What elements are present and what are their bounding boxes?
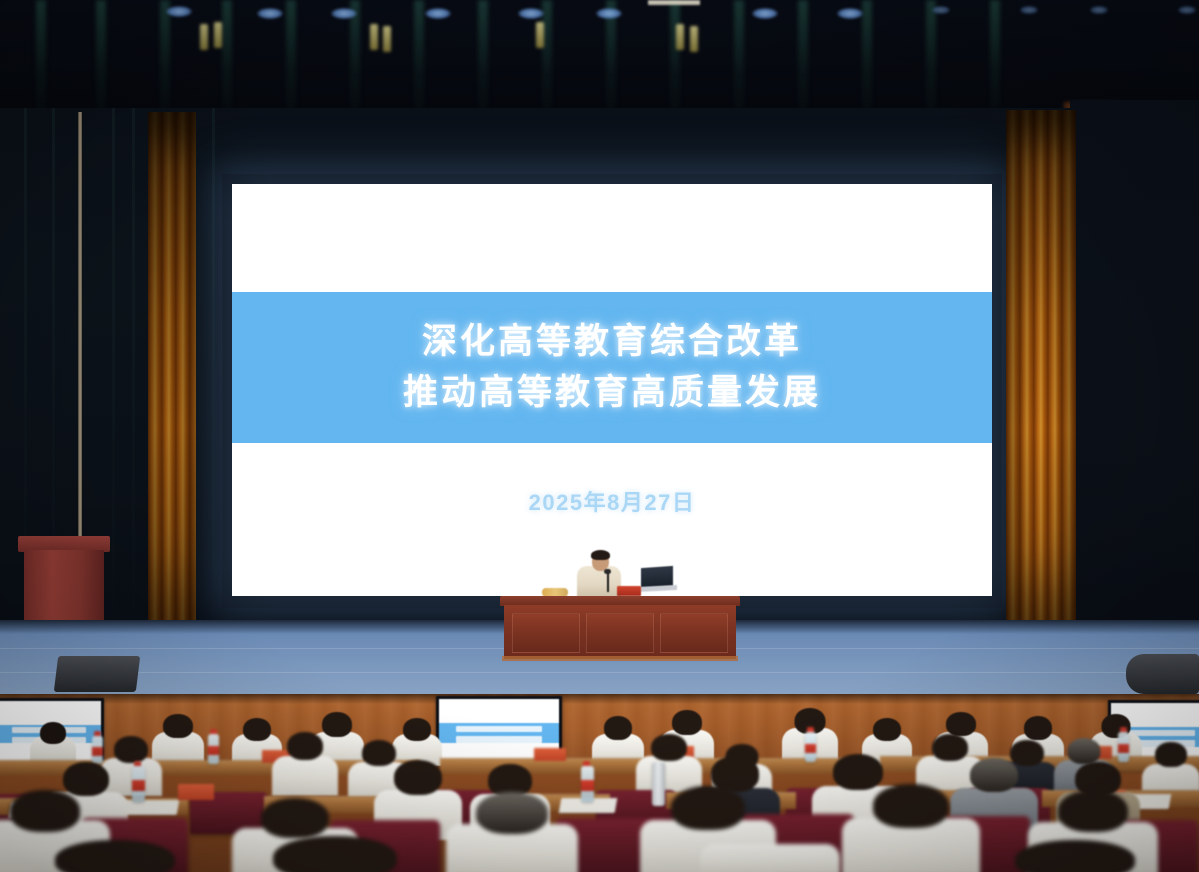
stage-backdrop-right [1070,100,1199,645]
ceiling-lamp [166,6,192,17]
attendee [40,840,190,872]
name-placard [178,784,214,800]
attendee [1000,840,1150,872]
attendee [700,844,840,872]
attendee [272,732,338,796]
ceiling-lamp [331,8,357,19]
ceiling-lamp [257,8,283,19]
ceiling-lamp [596,8,622,19]
water-bottle [1118,732,1129,762]
name-placard [534,748,566,761]
slide-top-margin [232,184,992,292]
stage-curtain-left [148,112,196,622]
microphone-head [604,569,611,574]
water-bottle [208,734,219,764]
ceiling-lamp [518,8,544,19]
attendee [260,836,410,872]
audience-area [0,694,1199,872]
water-bottle [581,766,594,802]
speaker-table-base [502,656,738,661]
slide-title-line-1: 深化高等教育综合改革 [422,320,802,365]
projection-screen: 深化高等教育综合改革 推动高等教育高质量发展 2025年8月27日 [232,184,992,596]
ceiling-lamp [1020,6,1038,14]
ceiling-lamp [425,8,451,19]
slide-title-line-2: 推动高等教育高质量发展 [403,371,821,416]
conference-hall-photo: 深化高等教育综合改革 推动高等教育高质量发展 2025年8月27日 [0,0,1199,872]
ceiling-lamp [932,6,950,14]
attendee [446,792,578,872]
speaker-table [504,605,736,659]
ceiling-lamp [837,8,863,19]
ceiling-light-bar [648,0,700,5]
stage-monitor-left [54,656,140,692]
ceiling-lamp [752,8,778,19]
attendee [842,784,980,872]
slide-date: 2025年8月27日 [232,485,992,517]
slide-title-band: 深化高等教育综合改革 推动高等教育高质量发展 [232,292,992,443]
nameplate [617,586,641,596]
ceiling-lamp [1178,6,1196,14]
presenter-hair [591,550,610,560]
microphone-stand [607,572,609,592]
water-bottle [132,766,145,802]
stage-curtain-right [1006,110,1076,626]
stage-monitor-right [1126,654,1199,694]
ceiling-lamp [1090,6,1108,14]
